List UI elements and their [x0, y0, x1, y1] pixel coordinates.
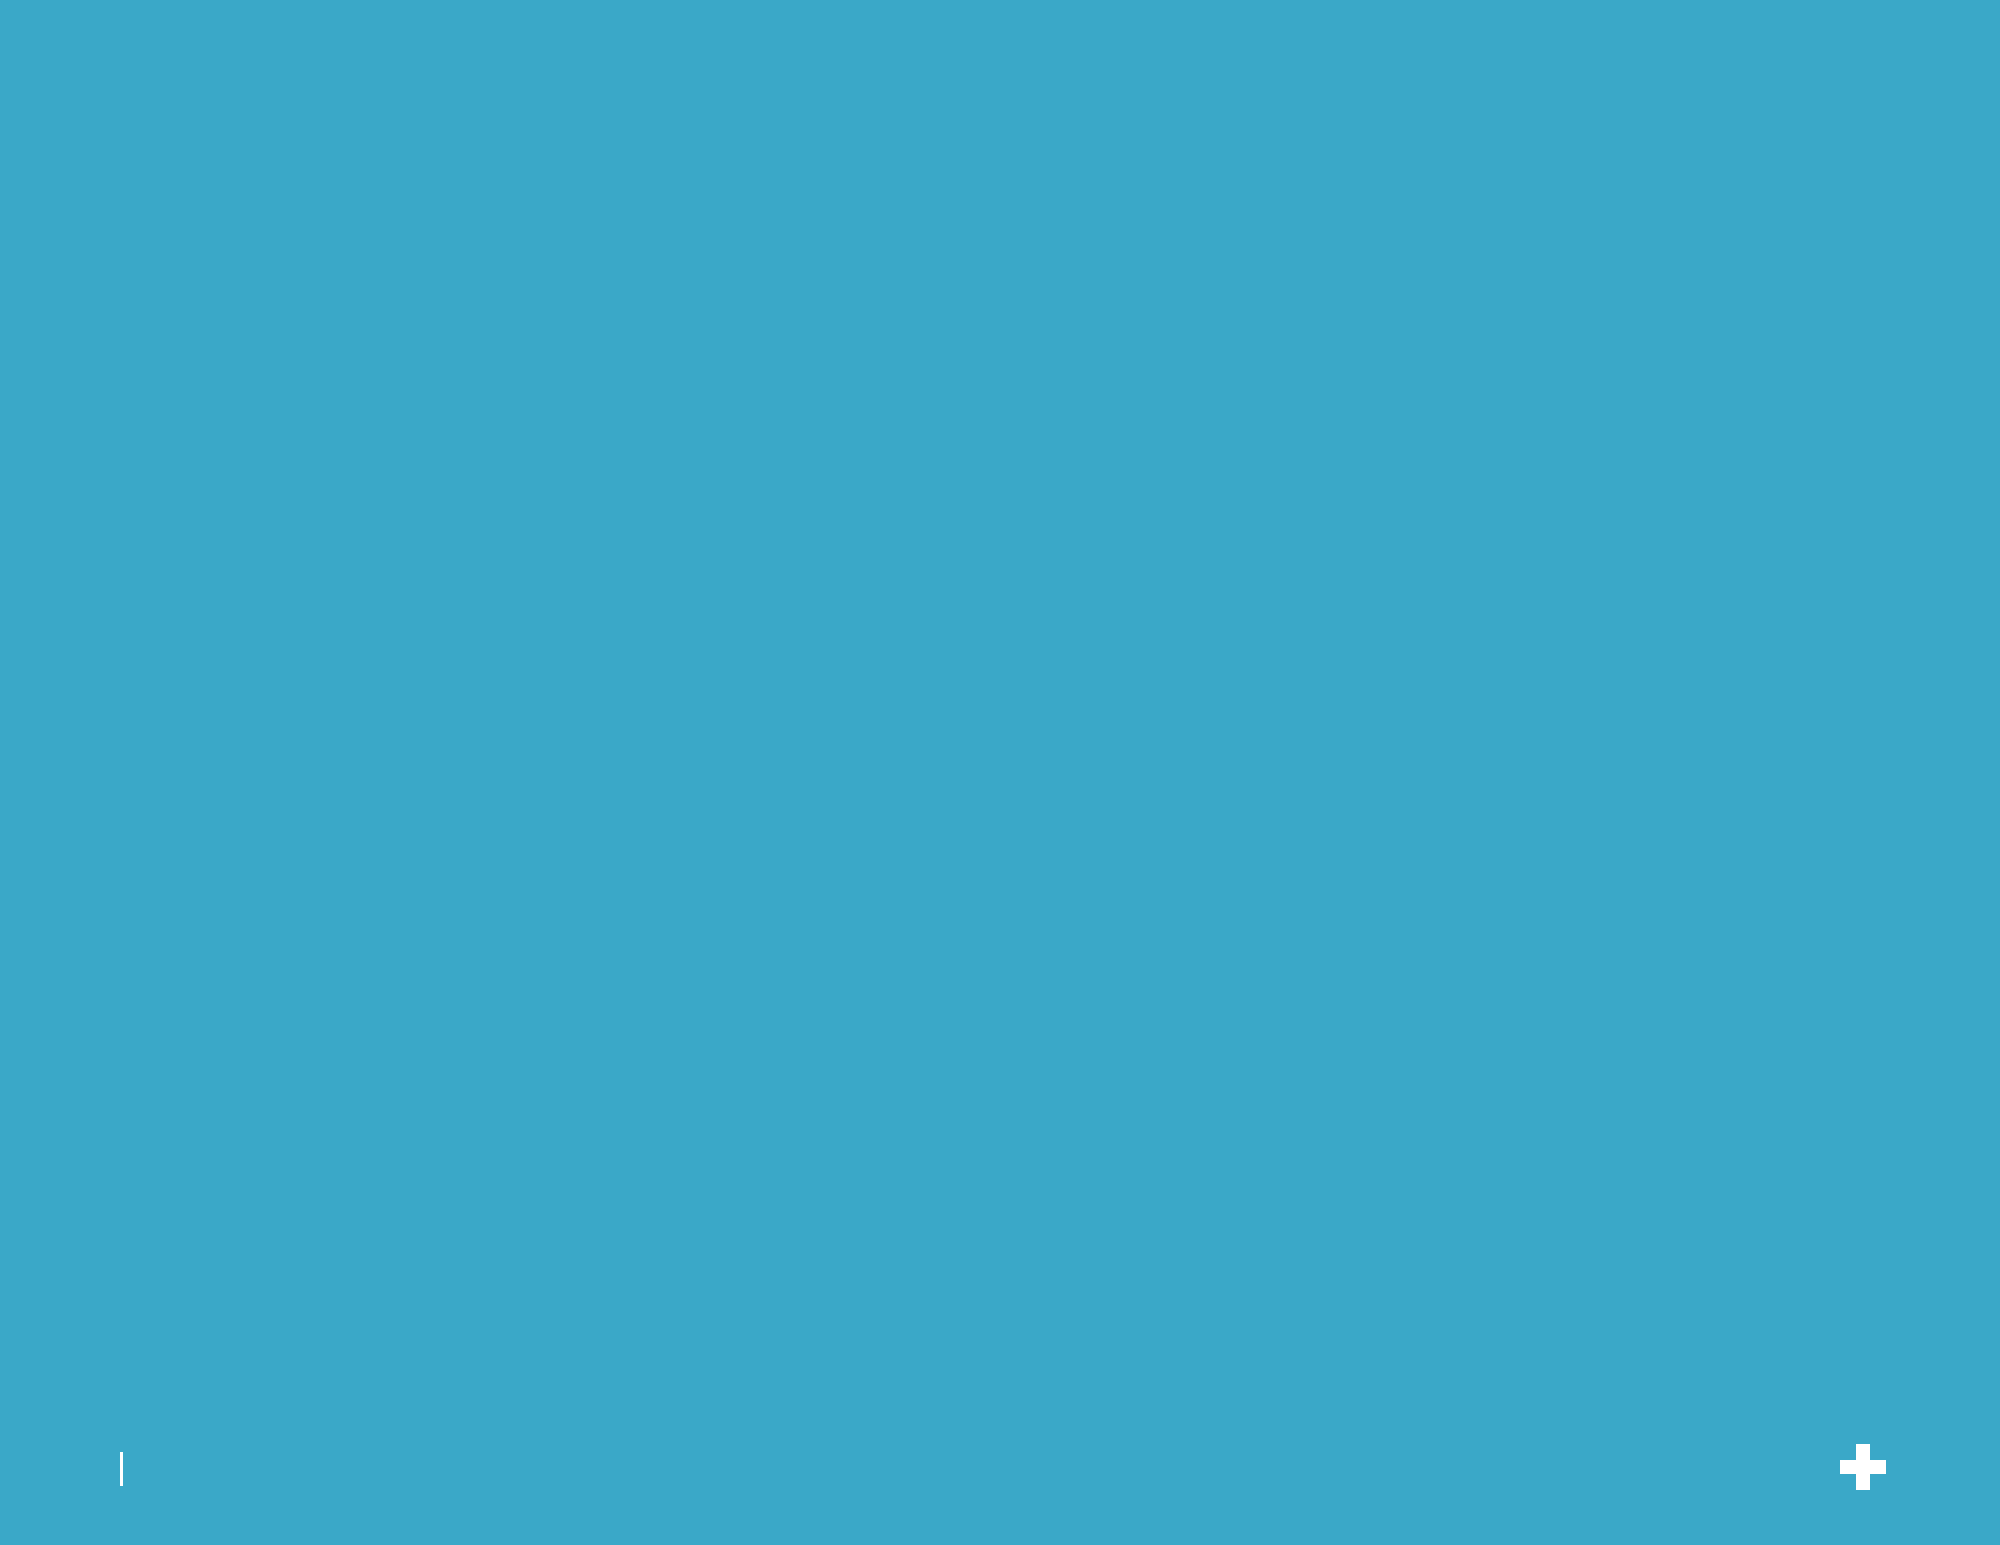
- footer-divider: [120, 1452, 123, 1486]
- month-row-first-half: [0, 100, 2000, 520]
- footer-logo-wordmark: [1830, 1444, 1896, 1490]
- page-footer: [0, 1410, 2000, 1545]
- month-row-second-half: [0, 558, 2000, 978]
- calendar-rows: [0, 100, 2000, 978]
- page-title: [70, 0, 1930, 62]
- footer-contact: [104, 1452, 139, 1486]
- plus-cross-icon: [1840, 1444, 1886, 1490]
- footer-logo: [1830, 1444, 1896, 1494]
